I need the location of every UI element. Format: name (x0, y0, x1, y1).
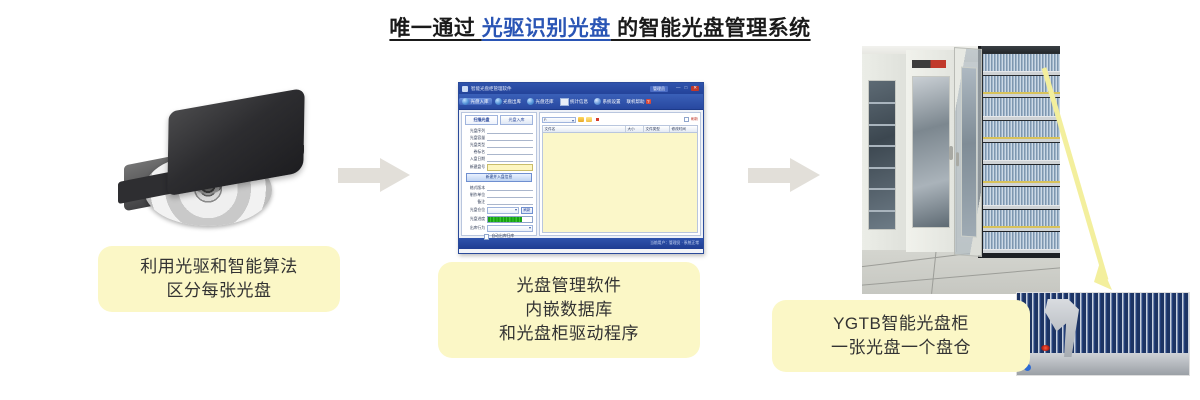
stop-icon[interactable] (596, 118, 599, 121)
cabinet-inner-shelf (869, 210, 895, 212)
refresh-button[interactable]: 刷新 (521, 207, 533, 214)
flow-arrow-drive-to-software (338, 158, 410, 192)
disc-progress-bar (487, 216, 533, 223)
toolbar-label: 光盘入库 (471, 99, 489, 105)
cabinet-top-bar (981, 46, 1060, 53)
progress-fill (488, 217, 522, 222)
app-icon (462, 86, 468, 92)
field-progress: 光盘进度 (465, 216, 533, 223)
field-insert-date[interactable]: 入盘日期 (465, 157, 533, 163)
callout-software: 光盘管理软件 内嵌数据库 和光盘柜驱动程序 (438, 262, 700, 358)
checkbox-label: 自动出库归库 (491, 234, 514, 239)
column-filetype: 文件类型 (644, 126, 670, 132)
file-list-column-header: 文件名 大小 文件类型 修改时间 (542, 125, 698, 133)
disc-cabinet-photo (862, 46, 1060, 294)
cabinet-shelf (983, 54, 1060, 75)
page-title-part1: 唯一通过 (389, 17, 481, 40)
laser-indicator-icon (1041, 345, 1050, 351)
arrow-head (790, 158, 820, 192)
minimize-icon[interactable]: — (676, 86, 681, 91)
field-label: 光盘进度 (465, 217, 485, 222)
field-label: 出库行为 (465, 226, 485, 231)
field-label: 备注 (465, 200, 485, 205)
cabinet-shelf-rail (983, 92, 1060, 94)
toolbar-label: 光盘还库 (536, 99, 554, 105)
column-modified: 修改时间 (670, 126, 697, 132)
page-title-part2: 的智能光盘管理系统 (611, 17, 811, 40)
cabinet-shelf (983, 98, 1060, 119)
cabinet-shelf (983, 232, 1060, 253)
disc-in-icon (462, 98, 469, 105)
toolbar-item-disc-in[interactable]: 光盘入库 (459, 98, 492, 105)
auto-return-checkbox-row[interactable]: 自动出库归库 (465, 234, 533, 240)
drive-path-dropdown[interactable]: F: (542, 117, 576, 123)
arrow-head (380, 158, 410, 192)
field-label: 光盘仓位 (465, 208, 485, 213)
toolbar-item-settings[interactable]: 系统设置 (591, 98, 624, 105)
cabinet-left-unit (862, 54, 907, 250)
field-label: 格式版本 (465, 186, 485, 191)
toolbar-label: 光盘出库 (503, 99, 521, 105)
cabinet-inner-shelf (869, 167, 895, 169)
toolbar-label: 联机帮助 (627, 99, 645, 105)
toolbar-item-stats[interactable]: 统计信息 (557, 98, 592, 106)
software-body: 扫描光盘 光盘入库 光盘序列 光盘容量 光盘类型 卷标名 入盘日期 (459, 110, 703, 238)
field-producer[interactable]: 制作单位 (465, 193, 533, 199)
callout-drive: 利用光驱和智能算法 区分每张光盘 (98, 246, 340, 312)
folder-new-icon[interactable] (586, 117, 592, 122)
slot-base-plate (1017, 353, 1189, 375)
cabinet-door-handle (949, 146, 953, 160)
outbound-action-dropdown[interactable] (487, 225, 533, 233)
user-chip: 管理员 (650, 86, 668, 92)
field-disc-serial[interactable]: 光盘序列 (465, 129, 533, 135)
field-label: 新建盘号 (465, 165, 485, 170)
software-statusbar: 当前用户：管理员 · 系统正常 (459, 238, 703, 249)
cabinet-inner-shelf (869, 145, 895, 147)
callout-cabinet: YGTB智能光盘柜 一张光盘一个盘仓 (772, 300, 1030, 372)
volume-label-input[interactable] (487, 150, 533, 156)
software-window-title: 智能光盘柜管理软件 (471, 86, 650, 92)
toolbar-item-disc-out[interactable]: 光盘出库 (492, 98, 525, 105)
cabinet-open-door (954, 47, 982, 257)
disc-slot-detail-photo (1016, 292, 1190, 376)
software-titlebar: 智能光盘柜管理软件 管理员 — □ ✕ (459, 83, 703, 94)
field-new-disc-no[interactable]: 新建盘号 (465, 164, 533, 171)
format-version-input[interactable] (487, 186, 533, 192)
left-panel-tabs[interactable]: 扫描光盘 光盘入库 (465, 115, 533, 125)
maximize-icon[interactable]: □ (685, 86, 688, 91)
software-left-panel: 扫描光盘 光盘入库 光盘序列 光盘容量 光盘类型 卷标名 入盘日期 (461, 112, 537, 236)
arrow-shaft (748, 168, 792, 183)
field-remark[interactable]: 备注 (465, 200, 533, 206)
page-title: 唯一通过 光驱识别光盘 的智能光盘管理系统 (0, 12, 1200, 42)
tab-scan-disc[interactable]: 扫描光盘 (465, 115, 498, 125)
remark-input[interactable] (487, 200, 533, 206)
cabinet-middle-unit (906, 50, 957, 252)
software-right-panel: F: 刷新 文件名 大小 文件类型 修改时间 (539, 112, 701, 236)
stats-icon (560, 98, 569, 106)
help-icon: ? (646, 99, 651, 104)
field-volume-label[interactable]: 卷标名 (465, 150, 533, 156)
field-label: 光盘容量 (465, 136, 485, 141)
refresh-label: 刷新 (691, 117, 698, 122)
cabinet-open-interior (978, 46, 1060, 258)
cabinet-inner-shelf (869, 188, 895, 190)
field-slot-select[interactable]: 光盘仓位 刷新 (465, 207, 533, 215)
tab-disc-in[interactable]: 光盘入库 (500, 115, 533, 125)
field-disc-capacity[interactable]: 光盘容量 (465, 136, 533, 142)
column-filename: 文件名 (543, 126, 626, 132)
toolbar-item-help[interactable]: 联机帮助 ? (624, 99, 654, 105)
gear-icon (594, 98, 601, 105)
file-list[interactable] (542, 133, 698, 233)
cabinet-shelf (983, 143, 1060, 164)
folder-open-icon[interactable] (578, 117, 584, 122)
field-outbound-action[interactable]: 出库行为 (465, 225, 533, 233)
cabinet-glass-pane (868, 80, 896, 230)
toolbar-label: 统计信息 (570, 99, 588, 105)
disc-out-icon (495, 98, 502, 105)
cabinet-inner-shelf (869, 102, 895, 104)
disc-capacity-input[interactable] (487, 136, 533, 142)
cabinet-shelf (983, 187, 1060, 208)
software-toolbar[interactable]: 光盘入库 光盘出库 光盘还库 统计信息 系统设置 联机帮助 ? (459, 94, 703, 110)
cabinet-glass-pane (912, 76, 950, 228)
cabinet-inner-shelf (869, 124, 895, 126)
insert-date-input[interactable] (487, 157, 533, 163)
field-label: 光盘序列 (465, 129, 485, 134)
disc-return-icon (527, 98, 534, 105)
toolbar-label: 系统设置 (603, 99, 621, 105)
field-label: 卷标名 (465, 150, 485, 155)
window-controls[interactable]: — □ ✕ (676, 86, 699, 91)
flow-arrow-software-to-cabinet (748, 158, 820, 192)
field-disc-type[interactable]: 光盘类型 (465, 143, 533, 149)
column-size: 大小 (626, 126, 644, 132)
page-title-highlight: 光驱识别光盘 (482, 17, 611, 40)
disc-serial-input[interactable] (487, 129, 533, 135)
new-disc-no-input[interactable] (487, 164, 533, 171)
checkbox-icon[interactable] (684, 117, 689, 122)
slot-dropdown[interactable] (487, 207, 519, 215)
field-label: 入盘日期 (465, 157, 485, 162)
cabinet-shelf-rail (983, 137, 1060, 139)
create-disc-record-button[interactable]: 新建并入盘信息 (466, 173, 532, 182)
drive-body (167, 88, 304, 196)
disc-management-software-window: 智能光盘柜管理软件 管理员 — □ ✕ 光盘入库 光盘出库 光盘还库 统计信息 … (458, 82, 704, 254)
external-dvd-drive-image (112, 98, 322, 226)
arrow-shaft (338, 168, 382, 183)
field-format-version[interactable]: 格式版本 (465, 186, 533, 192)
cabinet-door-handle (956, 152, 959, 166)
producer-input[interactable] (487, 193, 533, 199)
checkbox-icon[interactable] (484, 234, 490, 240)
cabinet-shelf-rail (983, 181, 1060, 183)
file-browser-toolbar[interactable]: F: 刷新 (542, 115, 698, 124)
field-label: 制作单位 (465, 193, 485, 198)
toolbar-item-disc-return[interactable]: 光盘还库 (524, 98, 557, 105)
refresh-checkbox[interactable]: 刷新 (684, 117, 698, 122)
disc-type-input[interactable] (487, 143, 533, 149)
cabinet-door-glass (961, 67, 977, 238)
field-label: 光盘类型 (465, 143, 485, 148)
close-icon[interactable]: ✕ (691, 86, 699, 91)
floor-tile-line (862, 266, 1060, 288)
cabinet-shelf-rail (983, 226, 1060, 228)
cabinet-label-plate (912, 60, 946, 68)
